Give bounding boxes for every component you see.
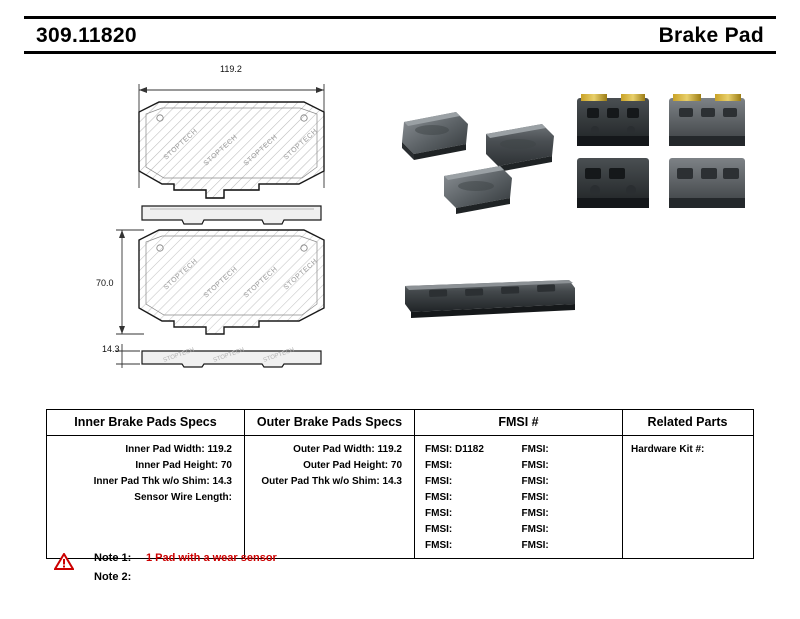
- outer-spec-line: Outer Pad Thk w/o Shim: 14.3: [249, 474, 410, 490]
- spec-header-fmsi: FMSI #: [415, 410, 623, 435]
- pad-photo-d: [577, 94, 649, 146]
- fmsi-entry: FMSI:: [522, 490, 619, 506]
- spec-header-inner: Inner Brake Pads Specs: [47, 410, 245, 435]
- fmsi-entry: FMSI:: [425, 474, 522, 490]
- notes-section: Note 1: 1 Pad with a wear sensor Note 2:: [46, 552, 546, 590]
- inner-spec-line: Inner Pad Width: 119.2: [51, 442, 240, 458]
- warning-icon: [54, 553, 74, 570]
- brake-pad-spec-sheet: 309.11820 Brake Pad: [0, 0, 800, 619]
- fmsi-entry: FMSI:: [522, 506, 619, 522]
- page-header: 309.11820 Brake Pad: [24, 16, 776, 54]
- fmsi-cell: FMSI: D1182 FMSI: FMSI: FMSI: FMSI: FMSI…: [415, 436, 623, 558]
- pad-photo-group-center: [394, 98, 574, 228]
- spec-header-related: Related Parts: [623, 410, 752, 435]
- pad-photo-f: [577, 158, 649, 208]
- fmsi-entry: FMSI:: [522, 474, 619, 490]
- outer-spec-line: Outer Pad Height: 70: [249, 458, 410, 474]
- fmsi-column-right: FMSI: FMSI: FMSI: FMSI: FMSI: FMSI: FMSI…: [522, 442, 619, 554]
- related-part-line: Hardware Kit #:: [627, 442, 748, 458]
- inner-specs-cell: Inner Pad Width: 119.2 Inner Pad Height:…: [47, 436, 245, 558]
- fmsi-entry: FMSI:: [425, 458, 522, 474]
- dimension-label-width: 119.2: [220, 64, 242, 74]
- page-title: Brake Pad: [659, 24, 764, 48]
- pad-photo-group-right: [569, 90, 754, 225]
- pad-lower-shape: STOPTECH STOPTECH STOPTECH STOPTECH: [139, 230, 324, 334]
- spec-table-body-row: Inner Pad Width: 119.2 Inner Pad Height:…: [47, 436, 753, 558]
- note-1-label: Note 1:: [94, 552, 131, 564]
- note-row-1: Note 1: 1 Pad with a wear sensor: [46, 552, 546, 571]
- outer-specs-cell: Outer Pad Width: 119.2 Outer Pad Height:…: [245, 436, 415, 558]
- fmsi-entry: FMSI:: [522, 442, 619, 458]
- inner-spec-line: Sensor Wire Length:: [51, 490, 240, 506]
- dimension-label-height: 70.0: [96, 278, 114, 288]
- fmsi-entry: FMSI:: [425, 506, 522, 522]
- pad-upper-shape: STOPTECH STOPTECH STOPTECH STOPTECH: [139, 102, 324, 198]
- fmsi-column-left: FMSI: D1182 FMSI: FMSI: FMSI: FMSI: FMSI…: [425, 442, 522, 554]
- inner-spec-line: Inner Pad Height: 70: [51, 458, 240, 474]
- pad-upper-edge-profile: [142, 206, 321, 224]
- outer-spec-line: Outer Pad Width: 119.2: [249, 442, 410, 458]
- thickness-dimension: [116, 344, 140, 368]
- note-row-2: Note 2:: [46, 571, 546, 590]
- pad-photo-b: [486, 124, 554, 172]
- pad-lower-edge-profile: STOPTECH STOPTECH STOPTECH: [142, 347, 321, 367]
- fmsi-entry: FMSI:: [425, 490, 522, 506]
- pad-photo-side-view: [399, 272, 579, 322]
- fmsi-entry: FMSI: D1182: [425, 442, 522, 458]
- spec-table-header-row: Inner Brake Pads Specs Outer Brake Pads …: [47, 410, 753, 436]
- specifications-table: Inner Brake Pads Specs Outer Brake Pads …: [46, 409, 754, 559]
- pad-photo-a: [402, 112, 468, 160]
- dimension-label-thickness: 14.3: [102, 344, 120, 354]
- pad-photo-g: [669, 158, 745, 208]
- fmsi-entry: FMSI:: [522, 458, 619, 474]
- note-2-label: Note 2:: [94, 571, 131, 583]
- inner-spec-line: Inner Pad Thk w/o Shim: 14.3: [51, 474, 240, 490]
- part-number: 309.11820: [36, 24, 137, 48]
- note-1-value: 1 Pad with a wear sensor: [146, 552, 277, 564]
- related-parts-cell: Hardware Kit #:: [623, 436, 752, 558]
- pad-photo-e: [669, 94, 745, 146]
- fmsi-entry: FMSI:: [425, 522, 522, 538]
- technical-drawing-area: STOPTECH STOPTECH STOPTECH STOPTECH STOP…: [24, 60, 776, 390]
- fmsi-entry: FMSI:: [522, 522, 619, 538]
- pad-photo-c: [444, 166, 512, 214]
- spec-header-outer: Outer Brake Pads Specs: [245, 410, 415, 435]
